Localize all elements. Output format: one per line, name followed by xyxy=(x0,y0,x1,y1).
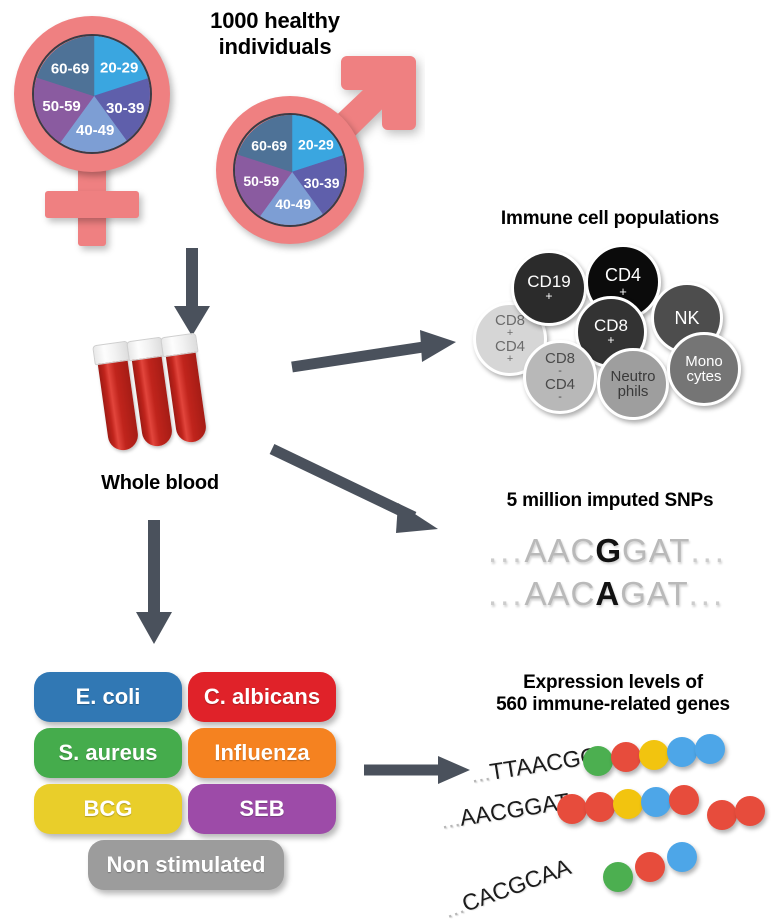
gene-strand-sequence: ...TTAACGG xyxy=(469,742,600,789)
stimulation-label: E. coli xyxy=(76,684,141,710)
gene-strand-sequence: ...CACGCAA xyxy=(440,853,574,922)
stimulation-label: BCG xyxy=(84,796,133,822)
pie-slice-label-30-39: 30-39 xyxy=(106,100,144,117)
stimulation-label: C. albicans xyxy=(204,684,320,710)
gene-bead xyxy=(667,842,697,872)
whole-blood-label: Whole blood xyxy=(60,472,260,496)
cell-label: NK xyxy=(674,309,699,327)
snp-suffix-dots: ... xyxy=(689,575,726,612)
snp-variant-allele: G xyxy=(595,532,622,569)
immune-cell-cd8n-cd4n: CD8-CD4- xyxy=(523,340,597,414)
whole-blood-tubes xyxy=(108,332,228,452)
stimulation-box-bcg[interactable]: BCG xyxy=(34,784,182,834)
gene-bead xyxy=(603,862,633,892)
gene-bead xyxy=(639,740,669,770)
snp-suffix-dots: ... xyxy=(690,532,727,569)
cell-label: CD8+ xyxy=(594,317,628,347)
age-pie-chart-male: 20-2930-3940-4950-5960-69 xyxy=(233,113,347,227)
section-title-immune: Immune cell populations xyxy=(455,208,765,230)
stimulation-label: Influenza xyxy=(214,740,309,766)
immune-cell-monocytes: Monocytes xyxy=(667,332,741,406)
snp-bases-before: AAC xyxy=(525,532,596,569)
male-gender-symbol: 20-2930-3940-4950-5960-69 xyxy=(210,40,425,240)
pie-slice-label-40-49: 40-49 xyxy=(76,122,114,139)
stimulation-label: Non stimulated xyxy=(107,852,266,878)
superscript-sign: + xyxy=(527,290,570,302)
age-pie-chart-female: 20-2930-3940-4950-5960-69 xyxy=(32,34,152,154)
gene-bead xyxy=(669,785,699,815)
stimulation-box-influenza[interactable]: Influenza xyxy=(188,728,336,778)
pie-slice-label-50-59: 50-59 xyxy=(42,98,80,115)
cell-label-line-2: cytes xyxy=(685,369,723,384)
pie-slice-label-50-59: 50-59 xyxy=(243,173,279,189)
arrow-blood-to-immune xyxy=(290,330,460,380)
stimulation-box-non-stimulated[interactable]: Non stimulated xyxy=(88,840,284,890)
snp-sequence-row-1: ...AACGGAT... xyxy=(488,532,727,570)
age-pie-svg: 20-2930-3940-4950-5960-69 xyxy=(34,36,152,154)
figure-canvas: 1000 healthy individuals 20-2930-3940-49… xyxy=(0,0,771,922)
snp-prefix-dots: ... xyxy=(488,575,525,612)
stimulation-box-s-aureus[interactable]: S. aureus xyxy=(34,728,182,778)
superscript-sign: + xyxy=(495,354,525,365)
immune-cell-neutrophils: Neutrophils xyxy=(597,348,669,420)
pie-slice-label-60-69: 60-69 xyxy=(251,138,287,154)
stimulation-box-c-albicans[interactable]: C. albicans xyxy=(188,672,336,722)
cell-label-line-1: Mono xyxy=(685,354,723,369)
gene-bead xyxy=(695,734,725,764)
strand-leading-dots: ... xyxy=(439,805,462,834)
stimulation-panel: E. coli C. albicans S. aureus Influenza … xyxy=(34,672,344,902)
expression-title-line-2: 560 immune-related genes xyxy=(455,694,771,716)
stimulation-box-e-coli[interactable]: E. coli xyxy=(34,672,182,722)
gene-strand-sequence: ...AACGGAT xyxy=(439,788,572,835)
pie-slice-label-40-49: 40-49 xyxy=(275,196,311,212)
section-title-expression: Expression levels of 560 immune-related … xyxy=(455,672,771,717)
gene-bead xyxy=(611,742,641,772)
pie-slice-label-20-29: 20-29 xyxy=(100,59,138,76)
snp-prefix-dots: ... xyxy=(488,532,525,569)
snp-sequence-row-2: ...AACAGAT... xyxy=(488,575,725,613)
strand-leading-dots: ... xyxy=(440,892,467,922)
cell-label-line-1: CD8- xyxy=(545,351,575,377)
gene-bead xyxy=(613,789,643,819)
gene-bead xyxy=(585,792,615,822)
arrow-cohort-to-blood xyxy=(170,248,230,340)
strand-leading-dots: ... xyxy=(469,759,492,788)
female-symbol-cross xyxy=(45,191,139,218)
gene-expression-strands: ...TTAACGG ...AACGGAT ...CACGCAA xyxy=(455,740,771,915)
pie-slice-label-30-39: 30-39 xyxy=(304,175,340,191)
cell-label: CD19+ xyxy=(527,273,570,303)
gene-bead xyxy=(667,737,697,767)
gene-bead xyxy=(707,800,737,830)
snp-bases-before: AAC xyxy=(525,575,596,612)
immune-cell-cluster: CD8+CD4+ CD19+ CD4+ NK CD8+ CD8-CD4- Neu… xyxy=(465,240,755,420)
gene-bead xyxy=(641,787,671,817)
gene-bead xyxy=(583,746,613,776)
stimulation-label: S. aureus xyxy=(58,740,157,766)
female-gender-symbol: 20-2930-3940-4950-5960-69 xyxy=(6,8,196,248)
gene-bead xyxy=(735,796,765,826)
arrow-blood-to-stimuli xyxy=(132,520,184,650)
snp-variant-allele: A xyxy=(595,575,620,612)
immune-cell-cd19p: CD19+ xyxy=(511,250,587,326)
superscript-sign: - xyxy=(545,392,575,403)
cell-label-line-1: CD8+ xyxy=(495,313,525,339)
cell-label-line-2: phils xyxy=(610,384,655,399)
pie-slice-label-20-29: 20-29 xyxy=(298,136,334,152)
snp-bases-after: GAT xyxy=(622,532,690,569)
cell-label-line-2: CD4- xyxy=(545,377,575,403)
stimulation-box-seb[interactable]: SEB xyxy=(188,784,336,834)
pie-slice-label-60-69: 60-69 xyxy=(51,61,89,78)
expression-title-line-1: Expression levels of xyxy=(455,672,771,694)
arrow-blood-to-snps xyxy=(270,445,450,545)
stimulation-label: SEB xyxy=(239,796,284,822)
cell-label: CD4+ xyxy=(605,266,641,298)
cell-label-line-1: Neutro xyxy=(610,369,655,384)
cell-label-line-2: CD4+ xyxy=(495,339,525,365)
superscript-sign: + xyxy=(594,334,628,346)
title-line-1: 1000 healthy xyxy=(170,8,380,34)
gene-bead xyxy=(635,852,665,882)
snp-bases-after: GAT xyxy=(620,575,688,612)
section-title-snps: 5 million imputed SNPs xyxy=(455,490,765,512)
gene-bead xyxy=(557,794,587,824)
age-pie-svg: 20-2930-3940-4950-5960-69 xyxy=(235,115,347,227)
